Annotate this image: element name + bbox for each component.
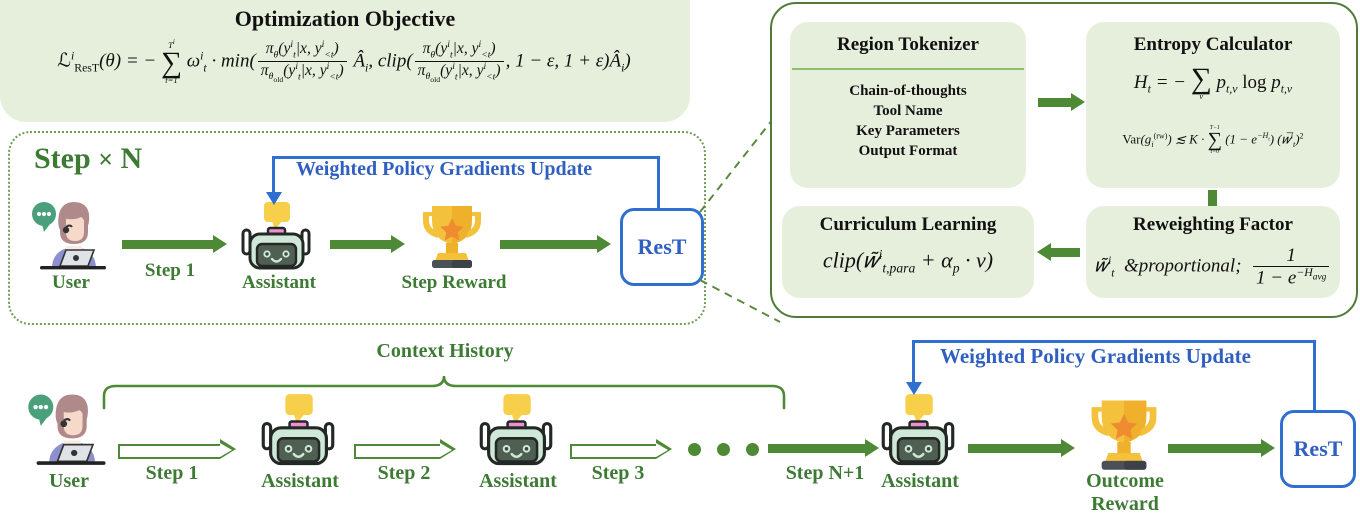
feedback-arrowhead-traj — [906, 382, 922, 395]
step-loop-title-word: Step — [34, 142, 91, 175]
robot-assistant-icon — [878, 394, 958, 470]
step-label-1: Step 2 — [348, 462, 460, 485]
step-label-0: Step 1 — [112, 462, 232, 485]
assistant-label-loop: Assistant — [224, 272, 334, 294]
robot-assistant-icon — [238, 202, 314, 274]
feedback-line-vertical-right-loop — [657, 156, 660, 210]
assistant-label-2: Assistant — [460, 470, 576, 493]
entropy-equation-1: Ht = − ∑ v pt,v log pt,v — [1086, 66, 1340, 101]
region-item-1: Tool Name — [790, 102, 1026, 122]
outcome-reward-label: Outcome Reward — [1050, 470, 1200, 516]
ellipsis-dot-3 — [746, 443, 759, 456]
feedback-line-vertical-left-traj — [912, 340, 915, 384]
feedback-line-horizontal-traj — [912, 340, 1316, 343]
context-history-brace — [100, 370, 790, 410]
rest-box-loop[interactable]: ResT — [620, 208, 704, 286]
step-loop-title-times: × — [98, 145, 113, 174]
reweighting-factor-box: Reweighting Factor 𝑤̃it &proportional; 1… — [1086, 206, 1340, 298]
rest-box-trajectory[interactable]: ResT — [1280, 410, 1356, 488]
context-history-label: Context History — [330, 340, 560, 363]
region-item-3: Output Format — [790, 142, 1026, 162]
arrow-assistant-to-outcome-reward — [968, 444, 1062, 453]
region-item-0: Chain-of-thoughts — [790, 82, 1026, 102]
arrow-assistant-to-reward-loop — [330, 240, 392, 249]
step-reward-label: Step Reward — [390, 272, 518, 294]
ellipsis-dot-2 — [717, 443, 730, 456]
arrow-user-to-assistant-loop — [122, 240, 214, 249]
arrow-step-3 — [570, 444, 656, 459]
arrow-reweighting-to-curriculum — [1050, 248, 1080, 257]
entropy-calculator-box: Entropy Calculator Ht = − ∑ v pt,v log p… — [1086, 22, 1340, 188]
region-tokenizer-items: Chain-of-thoughts Tool Name Key Paramete… — [790, 82, 1026, 162]
feedback-line-vertical-right-traj — [1313, 340, 1316, 412]
feedback-arrowhead-loop — [266, 192, 282, 205]
step-loop-title-n: N — [121, 142, 143, 175]
ellipsis-dot-1 — [688, 443, 701, 456]
region-tokenizer-title: Region Tokenizer — [790, 34, 1026, 56]
optimization-objective-title: Optimization Objective — [0, 6, 690, 32]
optimization-objective-equation: ℒiResT(θ) = − Ti ∑ t=1 ωit · min( πθ(yit… — [8, 40, 680, 85]
curriculum-learning-box: Curriculum Learning clip(𝑤̃it,para + αp … — [782, 206, 1034, 298]
feedback-line-vertical-left-loop — [272, 156, 275, 194]
arrow-region-to-entropy — [1038, 98, 1072, 107]
robot-assistant-icon — [258, 394, 338, 470]
user-label-trajectory: User — [14, 470, 124, 493]
reweighting-equation: 𝑤̃it &proportional; 1 1 − e−Havg — [1086, 246, 1340, 288]
feedback-label-traj: Weighted Policy Gradients Update — [940, 344, 1251, 369]
arrow-step-1 — [118, 444, 220, 459]
entropy-calculator-title: Entropy Calculator — [1086, 34, 1340, 56]
feedback-label-loop: Weighted Policy Gradients Update — [296, 158, 592, 181]
trophy-icon — [1086, 396, 1162, 472]
reweighting-factor-title: Reweighting Factor — [1086, 214, 1340, 236]
arrow-outcome-to-rest — [1168, 444, 1262, 453]
robot-assistant-icon — [476, 394, 556, 470]
arrow-step-2 — [354, 444, 440, 459]
region-tokenizer-box: Region Tokenizer Chain-of-thoughts Tool … — [790, 22, 1026, 188]
step-label-2: Step 3 — [562, 462, 674, 485]
user-with-laptop-icon — [26, 200, 118, 272]
region-item-2: Key Parameters — [790, 122, 1026, 142]
rest-label-trajectory: ResT — [1294, 436, 1343, 462]
entropy-equation-2: Var(gi(rw)) ≲ K · T−1 ∑ t=0 (1 − e−Ht) (… — [1086, 126, 1340, 155]
step-loop-title: Step × N — [34, 142, 142, 176]
trophy-icon — [418, 202, 486, 270]
assistant-label-1: Assistant — [242, 470, 358, 493]
user-with-laptop-icon — [22, 392, 118, 468]
region-tokenizer-divider — [792, 68, 1024, 70]
curriculum-equation: clip(𝑤̃it,para + αp · ν) — [782, 248, 1034, 276]
rest-label-loop: ResT — [638, 234, 687, 260]
curriculum-learning-title: Curriculum Learning — [782, 214, 1034, 236]
step1-label-loop: Step 1 — [110, 260, 230, 282]
assistant-label-3: Assistant — [862, 470, 978, 493]
arrow-step-n-plus-1 — [768, 444, 866, 453]
arrow-reward-to-rest-loop — [500, 240, 598, 249]
